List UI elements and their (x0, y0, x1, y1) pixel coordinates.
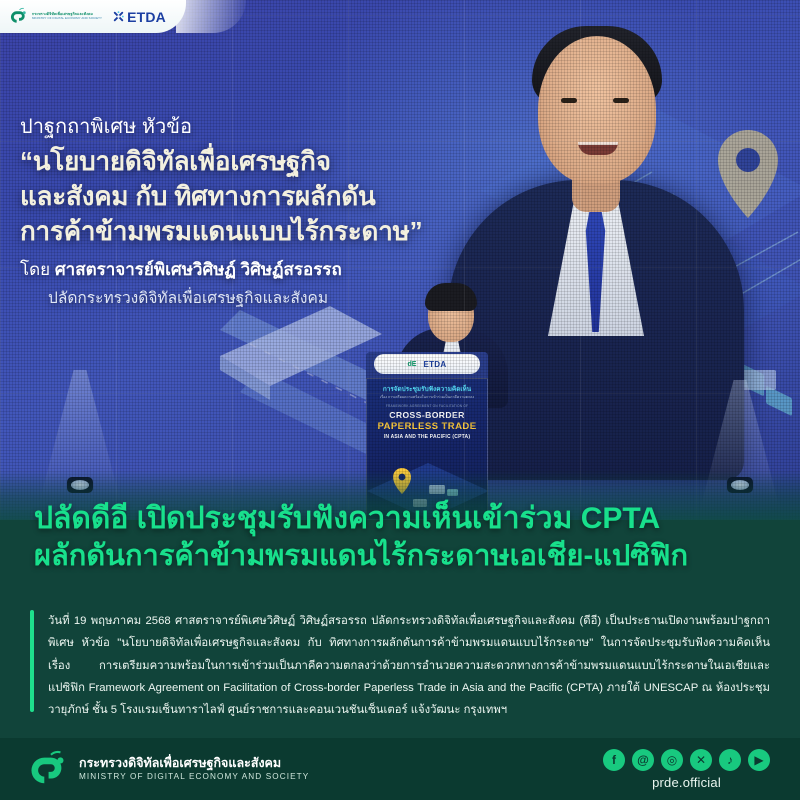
facebook-icon[interactable]: f (603, 749, 625, 771)
mdes-logo-english: MINISTRY OF DIGITAL ECONOMY AND SOCIETY (32, 17, 102, 20)
etda-logo-word: ETDA (127, 9, 166, 25)
topbar-logos: กระทรวงดิจิทัลเพื่อเศรษฐกิจและสังคม MINI… (0, 0, 186, 33)
body-paragraph: วันที่ 19 พฤษภาคม 2568 ศาสตราจารย์พิเศษว… (48, 610, 770, 740)
youtube-icon[interactable]: ▶ (748, 749, 770, 771)
title-kicker: ปาฐกถาพิเศษ หัวข้อ (20, 110, 440, 142)
title-block: ปาฐกถาพิเศษ หัวข้อ “นโยบายดิจิทัลเพื่อเศ… (20, 110, 440, 310)
footer-logo: กระทรวงดิจิทัลเพื่อเศรษฐกิจและสังคม MINI… (30, 750, 309, 788)
title-line-1: “นโยบายดิจิทัลเพื่อเศรษฐกิจ (20, 144, 440, 179)
title-line-2: และสังคม กับ ทิศทางการผลักดัน (20, 179, 440, 214)
etda-x-icon (112, 10, 125, 23)
speaker-role: ปลัดกระทรวงดิจิทัลเพื่อเศรษฐกิจและสังคม (20, 285, 440, 310)
poster-canvas: dE ETDA การจัดประชุมรับฟังความคิดเห็น เร… (0, 0, 800, 800)
mdes-logo: กระทรวงดิจิทัลเพื่อเศรษฐกิจและสังคม MINI… (10, 7, 102, 26)
speaker-byline: โดย ศาสตราจารย์พิเศษวิศิษฏ์ วิศิษฏ์สรอรร… (20, 256, 440, 283)
footer-logo-english: MINISTRY OF DIGITAL ECONOMY AND SOCIETY (79, 772, 309, 782)
headline-line-1: ปลัดดีอี เปิดประชุมรับฟังความเห็นเข้าร่ว… (34, 500, 766, 538)
footer-social-block: f @ ◎ ✕ ♪ ▶ prde.official (603, 749, 770, 790)
speaker-name: ศาสตราจารย์พิเศษวิศิษฏ์ วิศิษฏ์สรอรรถ (55, 260, 342, 279)
social-handle: prde.official (603, 775, 770, 790)
title-line-3: การค้าข้ามพรมแดนแบบไร้กระดาษ” (20, 214, 440, 249)
tiktok-icon[interactable]: ♪ (719, 749, 741, 771)
etda-logo: ETDA (112, 9, 166, 25)
footer-bar: กระทรวงดิจิทัลเพื่อเศรษฐกิจและสังคม MINI… (0, 738, 800, 800)
headline-block: ปลัดดีอี เปิดประชุมรับฟังความเห็นเข้าร่ว… (0, 500, 800, 576)
mdes-logo-icon (30, 750, 70, 788)
speaker-byline-prefix: โดย (20, 260, 55, 279)
instagram-icon[interactable]: ◎ (661, 749, 683, 771)
mdes-logo-icon (10, 7, 29, 26)
social-icons: f @ ◎ ✕ ♪ ▶ (603, 749, 770, 771)
body-text-block: วันที่ 19 พฤษภาคม 2568 ศาสตราจารย์พิเศษว… (0, 600, 800, 740)
x-twitter-icon[interactable]: ✕ (690, 749, 712, 771)
accent-bar (30, 610, 34, 712)
footer-logo-thai: กระทรวงดิจิทัลเพื่อเศรษฐกิจและสังคม (79, 756, 309, 771)
threads-icon[interactable]: @ (632, 749, 654, 771)
headline-line-2: ผลักดันการค้าข้ามพรมแดนไร้กระดาษเอเชีย-แ… (34, 538, 766, 575)
